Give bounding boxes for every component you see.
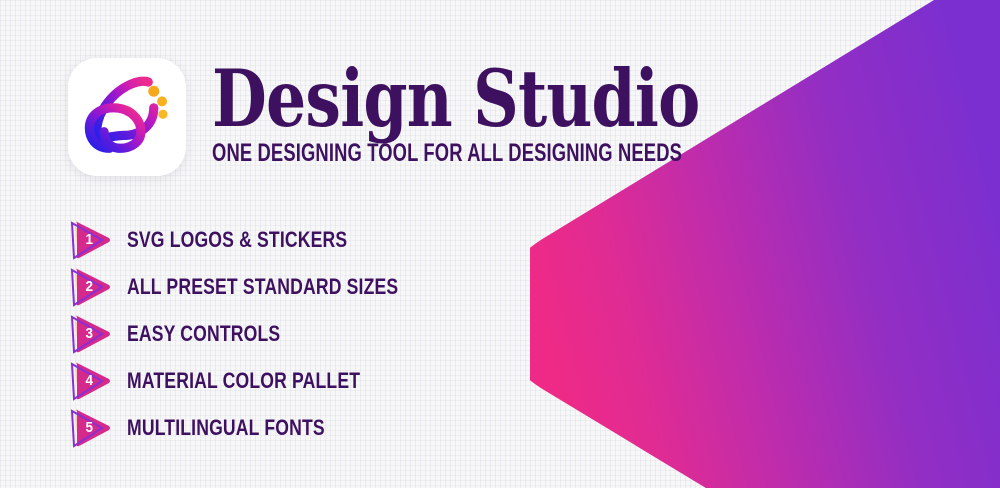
numbered-triangle-icon: 5 xyxy=(68,407,116,449)
list-item: 5 MULTILINGUAL FONTS xyxy=(68,404,488,451)
app-promo-banner: Design Studio ONE DESIGNING TOOL FOR ALL… xyxy=(0,0,1000,488)
feature-label: MULTILINGUAL FONTS xyxy=(127,416,325,440)
feature-label: MATERIAL COLOR PALLET xyxy=(127,369,360,393)
feature-label: ALL PRESET STANDARD SIZES xyxy=(127,275,398,299)
numbered-triangle-icon: 4 xyxy=(68,360,116,402)
numbered-triangle-icon: 2 xyxy=(68,266,116,308)
numbered-triangle-icon: 3 xyxy=(68,313,116,355)
page-tagline: ONE DESIGNING TOOL FOR ALL DESIGNING NEE… xyxy=(212,140,557,167)
app-icon-tile xyxy=(68,58,186,176)
list-item: 3 EASY CONTROLS xyxy=(68,310,488,357)
title-block: Design Studio ONE DESIGNING TOOL FOR ALL… xyxy=(212,56,682,167)
infinity-f-logo-icon xyxy=(82,71,174,163)
numbered-triangle-icon: 1 xyxy=(68,219,116,261)
page-title: Design Studio xyxy=(212,56,588,142)
feature-list: 1 SVG LOGOS & STICKERS 2 ALL PRESET STAN… xyxy=(68,216,488,451)
feature-label: SVG LOGOS & STICKERS xyxy=(127,228,347,252)
list-item: 4 MATERIAL COLOR PALLET xyxy=(68,357,488,404)
list-item: 1 SVG LOGOS & STICKERS xyxy=(68,216,488,263)
list-item: 2 ALL PRESET STANDARD SIZES xyxy=(68,263,488,310)
feature-label: EASY CONTROLS xyxy=(127,322,280,346)
